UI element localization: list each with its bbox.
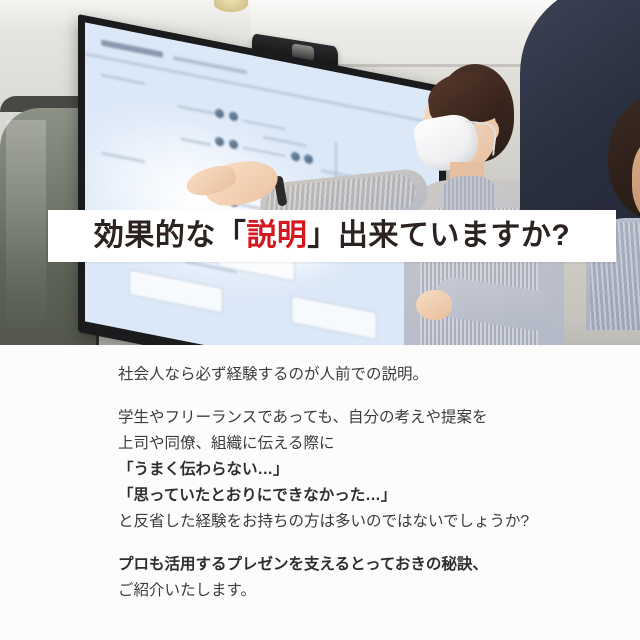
screen-ui-app-title: [101, 40, 163, 58]
screen-ui-avatar-5: [291, 151, 300, 162]
screen-ui-node-caption-3: [263, 136, 307, 148]
copy-line: 学生やフリーランスであっても、自分の考えや提案を: [118, 409, 488, 426]
copy-line-emphasis: 「思っていたとおりにできなかった…」: [118, 487, 396, 504]
screen-ui-card-2: [129, 269, 223, 314]
body-copy: 社会人なら必ず経験するのが人前での説明。 学生やフリーランスであっても、自分の考…: [118, 362, 578, 604]
copy-line: ご紹介いたします。: [118, 582, 256, 599]
copy-line-emphasis: 「うまく伝わらない…」: [118, 461, 289, 478]
copy-line: 社会人なら必ず経験するのが人前での説明。: [118, 366, 428, 383]
screen-ui-avatar-6: [304, 154, 313, 165]
screen-ui-connector-2: [243, 147, 285, 157]
screen-ui-avatar-4: [229, 139, 238, 150]
copy-line: と反省した経験をお持ちの方は多いのではないでしょうか?: [118, 513, 529, 530]
copy-paragraph-problem: 学生やフリーランスであっても、自分の考えや提案を 上司や同僚、組織に伝える際に …: [118, 405, 578, 535]
screen-ui-avatar-1: [215, 108, 224, 119]
screen-ui-sidebar-label-2: [101, 152, 145, 164]
copy-line: 上司や同僚、組織に伝える際に: [118, 435, 335, 452]
screen-ui-card-3: [291, 295, 377, 340]
headline-highlight: 説明: [246, 219, 307, 252]
headline-prefix: 効果的な「: [94, 219, 247, 252]
hero-photo: [0, 0, 640, 345]
screen-ui-node-caption-2: [181, 137, 211, 146]
screen-ui-sidebar-label-1: [101, 74, 145, 86]
screen-ui-node-caption-1: [177, 105, 217, 116]
headline-text: 効果的な「説明」出来ていますか?: [94, 221, 570, 251]
face-mask-strap: [462, 120, 497, 155]
listener-foreground: [520, 0, 640, 345]
screen-ui-avatar-3: [215, 136, 224, 147]
copy-line-emphasis: プロも活用するプレゼンを支えるとっておきの秘訣、: [118, 556, 488, 573]
headline-banner: 効果的な「説明」出来ていますか?: [48, 210, 616, 262]
copy-paragraph-intro: 社会人なら必ず経験するのが人前での説明。: [118, 362, 578, 388]
presenter-lower-hand: [416, 290, 452, 320]
screen-ui-avatar-2: [229, 111, 238, 122]
headline-suffix: 」出来ていますか?: [307, 219, 570, 252]
screen-ui-connector-1: [243, 120, 285, 130]
presenter-turtleneck-collar: [442, 176, 496, 212]
glass-sheen: [6, 120, 46, 330]
copy-paragraph-promise: プロも活用するプレゼンを支えるとっておきの秘訣、 ご紹介いたします。: [118, 552, 578, 604]
